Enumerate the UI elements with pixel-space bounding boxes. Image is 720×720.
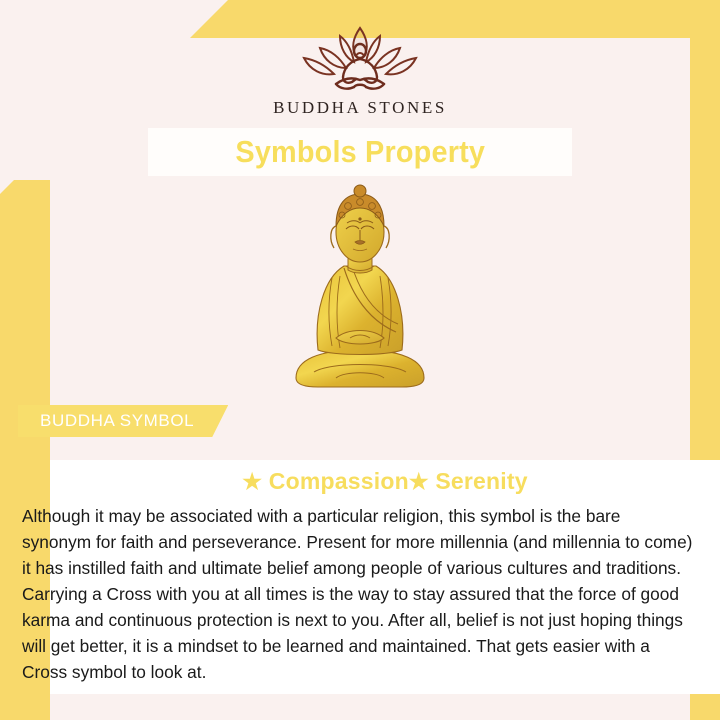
symbol-category-label: BUDDHA SYMBOL — [40, 411, 194, 431]
star-icon-right: ★ — [409, 469, 429, 494]
infographic-poster: BUDDHA STONES Symbols Property — [0, 0, 720, 720]
headline-keyword-serenity: Serenity — [429, 468, 528, 494]
content-headline: ★ Compassion★ Serenity — [50, 460, 720, 495]
title-banner: Symbols Property — [148, 128, 572, 176]
page-title: Symbols Property — [235, 134, 485, 170]
hero-image — [0, 182, 720, 402]
brand-logo: BUDDHA STONES — [0, 22, 720, 118]
symbol-category-tag: BUDDHA SYMBOL — [18, 405, 228, 437]
lotus-meditation-icon — [296, 22, 424, 94]
headline-keyword-compassion: Compassion — [262, 468, 409, 494]
star-icon-left: ★ — [242, 469, 262, 494]
content-paragraph: Although it may be associated with a par… — [22, 495, 712, 685]
content-panel: ★ Compassion★ Serenity Although it may b… — [50, 460, 720, 694]
golden-seated-buddha-statue-icon — [270, 182, 450, 402]
brand-name: BUDDHA STONES — [0, 98, 720, 118]
decorative-bottom-right-patch — [50, 694, 690, 720]
